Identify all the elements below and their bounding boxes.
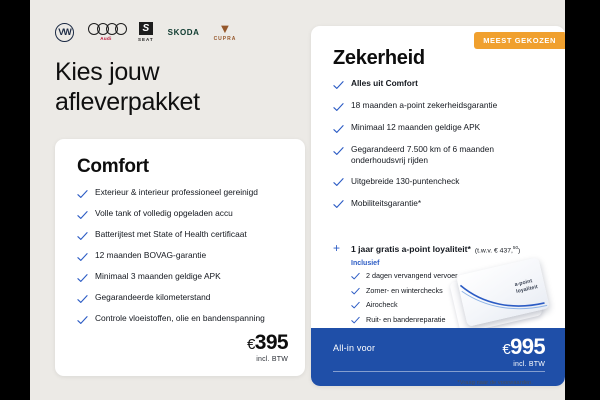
list-item: Exterieur & interieur professioneel gere… xyxy=(77,187,289,200)
audi-wordmark: Audi xyxy=(100,36,112,41)
list-item: Volle tank of volledig opgeladen accu xyxy=(77,208,289,221)
list-item: Minimaal 12 maanden geldige APK xyxy=(333,122,549,135)
list-item-label: 12 maanden BOVAG-garantie xyxy=(95,250,206,261)
zekerheid-price-value: 995 xyxy=(510,334,545,359)
list-item: Alles uit Comfort xyxy=(333,78,549,91)
check-icon xyxy=(333,177,344,188)
volkswagen-logo: VW xyxy=(55,23,74,42)
brand-logo-strip: VW Audi S SEAT SKODA ▼ CUPRA xyxy=(55,22,236,42)
check-icon xyxy=(333,80,344,91)
list-item: Controle vloeistoffen, olie en bandenspa… xyxy=(77,313,289,326)
check-icon xyxy=(77,294,88,305)
check-icon xyxy=(77,252,88,263)
check-icon xyxy=(77,231,88,242)
list-item-label: Controle vloeistoffen, olie en bandenspa… xyxy=(95,313,265,324)
zekerheid-title: Zekerheid xyxy=(333,47,425,70)
check-icon xyxy=(77,189,88,200)
check-icon xyxy=(77,273,88,284)
list-item-label: 18 maanden a-point zekerheidsgarantie xyxy=(351,100,497,111)
comfort-price-block: €395 incl. BTW xyxy=(247,332,288,363)
check-icon xyxy=(333,124,344,135)
screenshot-stage: VW Audi S SEAT SKODA ▼ CUPRA Kies jouw a… xyxy=(0,0,600,400)
comfort-price: €395 xyxy=(247,332,288,353)
list-item-label: Minimaal 3 maanden geldige APK xyxy=(95,271,221,282)
loyalty-value: (t.w.v. € 437,50) xyxy=(475,245,520,254)
page-title: Kies jouw afleverpakket xyxy=(55,58,305,117)
allin-price-bar[interactable]: All-in voor €995 incl. BTW xyxy=(311,328,565,386)
list-item-label: Gegarandeerde kilometerstand xyxy=(95,292,210,303)
loyalty-value-suffix: ) xyxy=(518,247,520,254)
list-item-label: Alles uit Comfort xyxy=(351,78,418,89)
list-item-label: Volle tank of volledig opgeladen accu xyxy=(95,208,233,219)
most-chosen-badge: MEEST GEKOZEN xyxy=(474,32,565,49)
loyalty-title: 1 jaar gratis a-point loyaliteit* xyxy=(351,244,471,254)
zekerheid-price-note: incl. BTW xyxy=(502,361,545,368)
list-item: Minimaal 3 maanden geldige APK xyxy=(77,271,289,284)
list-item: Mobiliteitsgarantie* xyxy=(333,198,549,211)
list-item: Gegarandeerde kilometerstand xyxy=(77,292,289,305)
promo-canvas: VW Audi S SEAT SKODA ▼ CUPRA Kies jouw a… xyxy=(30,0,565,400)
page-title-line1: Kies jouw xyxy=(55,58,305,88)
list-item: Uitgebreide 130-puntencheck xyxy=(333,176,549,189)
list-item: Batterijtest met State of Health certifi… xyxy=(77,229,289,242)
check-icon xyxy=(77,210,88,221)
list-item: Gegarandeerd 7.500 km of 6 maanden onder… xyxy=(333,144,549,166)
comfort-price-note: incl. BTW xyxy=(247,356,288,363)
list-item-label: Uitgebreide 130-puntencheck xyxy=(351,176,459,187)
list-item-label: 2 dagen vervangend vervoer xyxy=(366,271,458,281)
check-icon xyxy=(77,315,88,326)
zekerheid-price: €995 xyxy=(502,336,545,358)
list-item-label: Mobiliteitsgarantie* xyxy=(351,198,421,209)
comfort-title: Comfort xyxy=(77,156,149,178)
skoda-wordmark: SKODA xyxy=(168,28,200,37)
list-item-label: Minimaal 12 maanden geldige APK xyxy=(351,122,480,133)
divider xyxy=(333,371,545,372)
loyalty-heading: + 1 jaar gratis a-point loyaliteit* (t.w… xyxy=(333,242,553,254)
list-item: 18 maanden a-point zekerheidsgarantie xyxy=(333,100,549,113)
page-title-line2: afleverpakket xyxy=(55,88,305,118)
allin-label: All-in voor xyxy=(333,343,375,353)
comfort-price-value: 395 xyxy=(255,331,288,354)
check-icon xyxy=(351,272,360,281)
check-icon xyxy=(351,301,360,310)
zekerheid-package-card[interactable]: MEEST GEKOZEN Zekerheid Alles uit Comfor… xyxy=(311,26,565,386)
cupra-wordmark: CUPRA xyxy=(214,36,237,42)
vw-icon: VW xyxy=(55,23,74,42)
cupra-logo: ▼ CUPRA xyxy=(214,22,237,42)
skoda-logo: SKODA xyxy=(168,28,200,37)
seat-icon: S xyxy=(139,22,153,35)
check-icon xyxy=(333,199,344,210)
allin-price-block: €995 incl. BTW xyxy=(502,336,545,368)
list-item-label: Airocheck xyxy=(366,300,398,310)
check-icon xyxy=(351,287,360,296)
cupra-icon: ▼ xyxy=(219,22,232,35)
list-item-label: Batterijtest met State of Health certifi… xyxy=(95,229,247,240)
loyalty-value-prefix: (t.w.v. € 437, xyxy=(475,247,513,254)
check-icon xyxy=(333,146,344,157)
audi-rings-icon xyxy=(88,23,124,35)
currency-symbol: € xyxy=(247,336,255,353)
check-icon xyxy=(351,316,360,325)
audi-logo: Audi xyxy=(88,23,124,41)
list-item-label: Exterieur & interieur professioneel gere… xyxy=(95,187,258,198)
list-item-label: Ruit- en bandenreparatie xyxy=(366,315,446,325)
seat-logo: S SEAT xyxy=(138,22,154,42)
comfort-package-card[interactable]: Comfort Exterieur & interieur profession… xyxy=(55,139,305,376)
plus-icon: + xyxy=(333,242,344,254)
currency-symbol: € xyxy=(502,341,510,358)
seat-wordmark: SEAT xyxy=(138,37,154,42)
footnote: *Vraag naar de voorwaarden. xyxy=(457,380,533,386)
list-item: 12 maanden BOVAG-garantie xyxy=(77,250,289,263)
list-item-label: Zomer- en winterchecks xyxy=(366,286,443,296)
check-icon xyxy=(333,102,344,113)
list-item-label: Gegarandeerd 7.500 km of 6 maanden onder… xyxy=(351,144,549,166)
zekerheid-feature-list: Alles uit Comfort 18 maanden a-point zek… xyxy=(333,78,549,220)
comfort-feature-list: Exterieur & interieur professioneel gere… xyxy=(77,187,289,334)
